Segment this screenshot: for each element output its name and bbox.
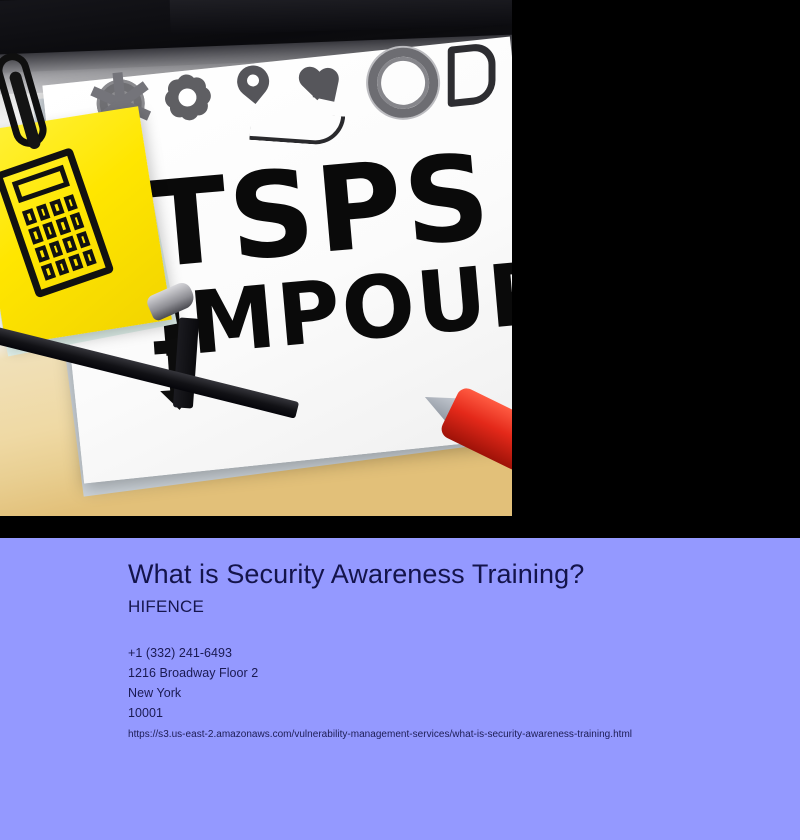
contact-phone[interactable]: +1 (332) 241-6493 [128, 643, 768, 663]
office-desk-photo: TSPS IMPOUPRT [0, 0, 512, 516]
contact-postal-code: 10001 [128, 703, 768, 723]
info-panel: What is Security Awareness Training? HIF… [0, 538, 800, 840]
map-pin-icon [236, 64, 273, 115]
contact-city: New York [128, 683, 768, 703]
page-root: TSPS IMPOUPRT [0, 0, 800, 840]
page-title: What is Security Awareness Training? [128, 559, 768, 590]
contact-address-line1: 1216 Broadway Floor 2 [128, 663, 768, 683]
info-content: What is Security Awareness Training? HIF… [128, 559, 768, 740]
contact-block: +1 (332) 241-6493 1216 Broadway Floor 2 … [128, 643, 768, 723]
source-url-link[interactable]: https://s3.us-east-2.amazonaws.com/vulne… [128, 729, 768, 740]
hero-media-band: TSPS IMPOUPRT [0, 0, 800, 538]
letter-d-icon [448, 42, 496, 107]
brand-name: HIFENCE [128, 597, 768, 617]
flower-icon [158, 68, 217, 127]
calculator-icon [0, 147, 115, 299]
heart-icon [300, 62, 346, 106]
